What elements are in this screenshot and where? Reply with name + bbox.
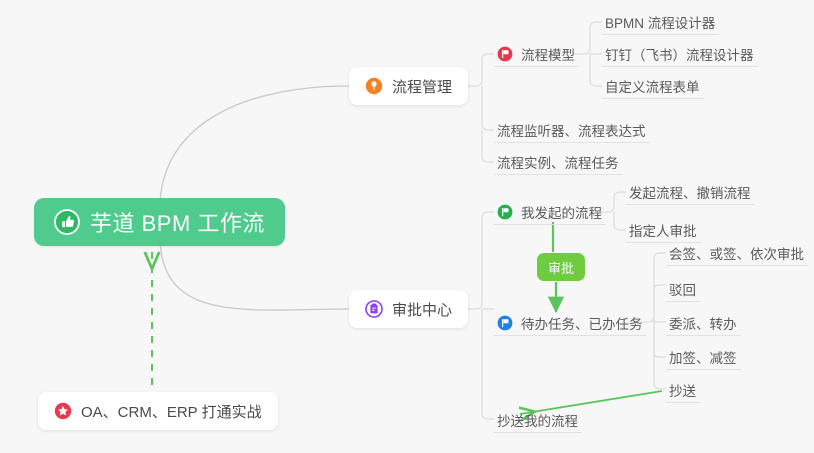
node-reject[interactable]: 驳回 bbox=[666, 276, 700, 302]
node-assignee-approval-label: 指定人审批 bbox=[629, 220, 697, 240]
node-dingtalk-feishu-designer[interactable]: 钉钉（飞书）流程设计器 bbox=[602, 41, 758, 67]
red-star-icon bbox=[54, 402, 72, 420]
wire-todo-to-addsign bbox=[654, 322, 666, 357]
node-start-cancel-process-label: 发起流程、撤销流程 bbox=[629, 182, 751, 202]
root-label: 芋道 BPM 工作流 bbox=[90, 206, 265, 238]
node-reject-label: 驳回 bbox=[669, 279, 696, 299]
wire-pm-to-instance bbox=[482, 130, 494, 162]
node-my-initiated-process[interactable]: 我发起的流程 bbox=[494, 199, 606, 225]
wire-root-to-process-management bbox=[160, 86, 349, 202]
red-flag-icon bbox=[497, 46, 513, 62]
node-cc-to-me[interactable]: 抄送我的流程 bbox=[494, 407, 582, 433]
node-process-model-label: 流程模型 bbox=[521, 44, 575, 64]
blue-flag-icon bbox=[497, 315, 513, 331]
clipboard-icon bbox=[365, 300, 383, 318]
node-process-model[interactable]: 流程模型 bbox=[494, 41, 579, 67]
mindmap-canvas: 芋道 BPM 工作流 流程管理 流程模型 BPMN 流程设计器 钉钉（飞书）流程 bbox=[0, 0, 814, 453]
node-my-initiated-process-label: 我发起的流程 bbox=[521, 202, 602, 222]
wire-pmodel-to-customform bbox=[590, 54, 602, 86]
node-delegate-transfer-label: 委派、转办 bbox=[669, 313, 737, 333]
root-node[interactable]: 芋道 BPM 工作流 bbox=[34, 198, 285, 246]
node-cc-to-me-label: 抄送我的流程 bbox=[497, 410, 578, 430]
branch-approval-center-label: 审批中心 bbox=[392, 299, 452, 320]
node-countersign[interactable]: 会签、或签、依次审批 bbox=[666, 240, 808, 266]
location-pin-icon bbox=[365, 77, 383, 95]
node-todo-done-tasks-label: 待办任务、已办任务 bbox=[521, 313, 643, 333]
node-custom-process-form-label: 自定义流程表单 bbox=[605, 76, 700, 96]
node-instance-task[interactable]: 流程实例、流程任务 bbox=[494, 149, 623, 175]
wire-todo-to-reject bbox=[654, 285, 666, 322]
node-listener-expression[interactable]: 流程监听器、流程表达式 bbox=[494, 117, 650, 143]
green-flag-icon bbox=[497, 204, 513, 220]
node-start-cancel-process[interactable]: 发起流程、撤销流程 bbox=[626, 179, 755, 205]
branch-process-management[interactable]: 流程管理 bbox=[349, 67, 468, 105]
node-cc-label: 抄送 bbox=[669, 380, 696, 400]
badge-approval-label: 审批 bbox=[548, 258, 574, 277]
node-dingtalk-feishu-designer-label: 钉钉（飞书）流程设计器 bbox=[605, 44, 754, 64]
node-add-remove-sign[interactable]: 加签、减签 bbox=[666, 344, 741, 370]
integration-note-label: OA、CRM、ERP 打通实战 bbox=[81, 401, 262, 422]
node-add-remove-sign-label: 加签、减签 bbox=[669, 347, 737, 367]
integration-note-card[interactable]: OA、CRM、ERP 打通实战 bbox=[38, 392, 278, 430]
branch-approval-center[interactable]: 审批中心 bbox=[349, 290, 468, 328]
wire-root-to-approval-center bbox=[160, 242, 349, 310]
node-listener-expression-label: 流程监听器、流程表达式 bbox=[497, 120, 646, 140]
wire-todo-to-cc bbox=[654, 322, 666, 389]
node-delegate-transfer[interactable]: 委派、转办 bbox=[666, 310, 741, 336]
node-bpmn-designer-label: BPMN 流程设计器 bbox=[605, 12, 715, 32]
node-bpmn-designer[interactable]: BPMN 流程设计器 bbox=[602, 9, 719, 35]
wire-ac-to-my-initiated bbox=[466, 212, 494, 309]
wire-pm-to-process-model bbox=[466, 54, 494, 86]
node-countersign-label: 会签、或签、依次审批 bbox=[669, 243, 804, 263]
thumbs-up-icon bbox=[54, 209, 80, 235]
branch-process-management-label: 流程管理 bbox=[392, 76, 452, 97]
node-instance-task-label: 流程实例、流程任务 bbox=[497, 152, 619, 172]
wire-pm-to-listener bbox=[482, 86, 494, 130]
node-todo-done-tasks[interactable]: 待办任务、已办任务 bbox=[494, 310, 647, 336]
badge-approval[interactable]: 审批 bbox=[537, 253, 585, 281]
wire-ac-to-cc-to-me bbox=[482, 309, 494, 419]
wire-mine-to-assignee bbox=[614, 212, 626, 230]
node-cc[interactable]: 抄送 bbox=[666, 377, 700, 403]
node-custom-process-form[interactable]: 自定义流程表单 bbox=[602, 73, 704, 99]
